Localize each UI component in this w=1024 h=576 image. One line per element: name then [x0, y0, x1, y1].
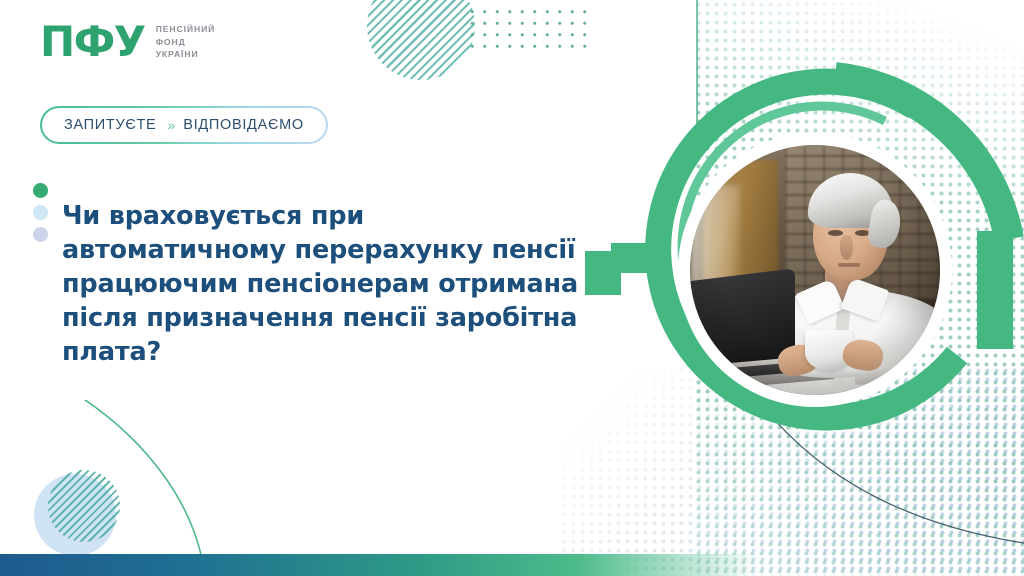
green-curve-decor-left [0, 400, 320, 576]
striped-halfcircle-decor [367, 0, 475, 80]
dot-grid-decor [466, 6, 592, 50]
qa-badge[interactable]: ЗАПИТУЄТЕ » ВІДПОВІДАЄМО [40, 106, 328, 144]
striped-circle-decor [48, 470, 120, 542]
logo-subtitle: Пенсійний фонд України [156, 23, 216, 62]
question-dot-3 [33, 227, 48, 242]
bottom-gradient-bar [0, 554, 760, 576]
badge-right-label: ВІДПОВІДАЄМО [183, 117, 304, 133]
question-dot-1 [33, 183, 48, 198]
photo-vignette [690, 145, 940, 395]
portrait-photo [690, 145, 940, 395]
badge-left-label: ЗАПИТУЄТЕ [64, 117, 156, 133]
logo-sub-line-2: фонд [156, 36, 216, 49]
logo-mark-text: ПФУ [40, 22, 145, 62]
striped-halfcircle-blue-backdrop [372, 0, 476, 72]
logo-sub-line-1: Пенсійний [156, 23, 216, 36]
slide-canvas: ПФУ Пенсійний фонд України ЗАПИТУЄТЕ » В… [0, 0, 1024, 576]
blue-circle-decor [34, 474, 116, 556]
photo-cluster [585, 55, 1024, 505]
question-dots [33, 183, 48, 242]
question-headline: Чи враховується при автоматичному перера… [62, 200, 592, 370]
chevron-right-icon: » [167, 117, 172, 133]
pfu-logo[interactable]: ПФУ Пенсійний фонд України [40, 22, 215, 62]
logo-sub-line-3: України [156, 48, 216, 61]
question-dot-2 [33, 205, 48, 220]
